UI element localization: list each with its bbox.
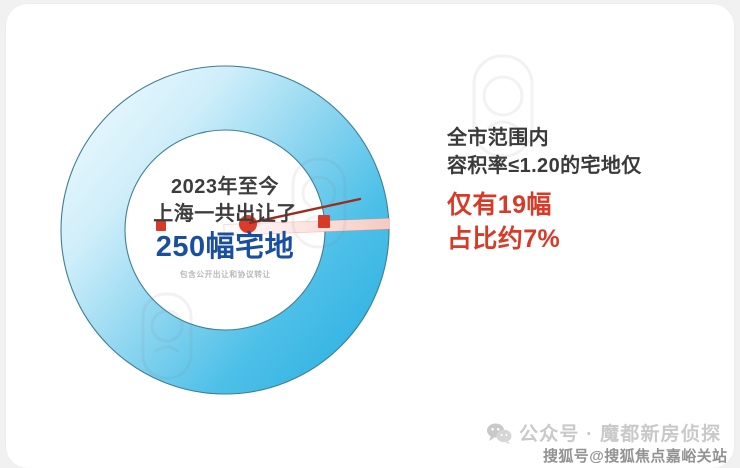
wechat-icon (486, 422, 512, 444)
callout-gray-line2: 容积率≤1.20的宅地仅 (447, 152, 717, 180)
sohu-watermark: 搜狐号@搜狐焦点嘉峪关站 (543, 445, 727, 466)
donut-chart (60, 65, 390, 395)
callout-gray-line1: 全市范围内 (447, 124, 717, 152)
data-point-marker (239, 215, 257, 233)
callout-block: 全市范围内 容积率≤1.20的宅地仅 仅有19幅 占比约7% (447, 124, 717, 257)
callout-red-line1: 仅有19幅 (447, 188, 717, 223)
callout-red-block: 仅有19幅 占比约7% (447, 188, 717, 257)
wechat-watermark: 公众号 · 魔都新房侦探 (486, 419, 721, 446)
donut-chart-svg (60, 65, 390, 395)
wechat-watermark-text: 公众号 · 魔都新房侦探 (519, 419, 721, 446)
screenshot-root: 2023年至今 上海一共出让了 250幅宅地 包含公开出让和协议转让 全市范围内… (0, 0, 740, 468)
callout-red-line2: 占比约7% (447, 222, 717, 257)
